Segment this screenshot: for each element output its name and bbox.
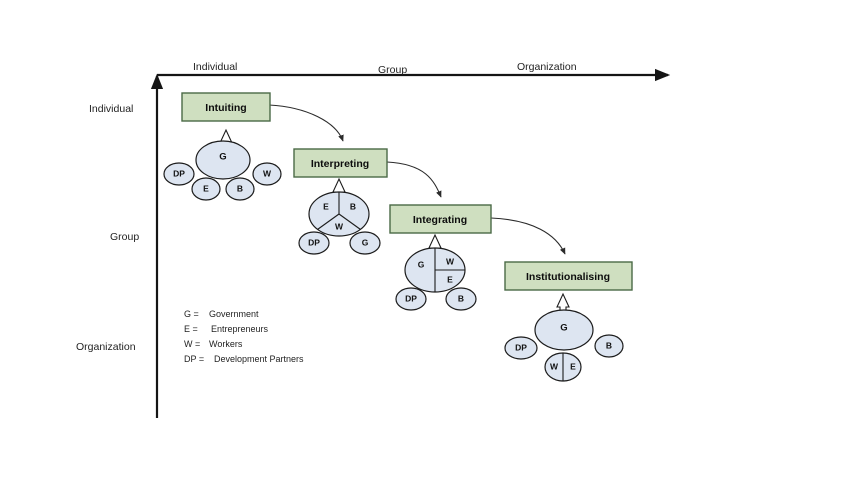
stage-label-institutionalising: Institutionalising — [526, 271, 610, 283]
actor-label-dp: DP — [173, 168, 185, 178]
actor-label-e: E — [447, 274, 453, 284]
actor-label-g: G — [560, 323, 567, 334]
stage-label-intuiting: Intuiting — [205, 102, 246, 114]
stage-integrating[interactable]: Integrating G W E DP B — [390, 205, 491, 310]
actor-label-b: B — [606, 340, 612, 350]
stage-institutionalising[interactable]: Institutionalising G DP B W E — [505, 262, 632, 386]
legend-value-g: Government — [209, 309, 259, 319]
actor-label-w: W — [446, 256, 455, 266]
x-axis-label-organization: Organization — [517, 61, 577, 73]
actor-label-dp: DP — [515, 342, 527, 352]
y-axis-label-individual: Individual — [89, 103, 133, 115]
actor-label-b: B — [237, 183, 243, 193]
connector-intuiting-to-interpreting — [269, 105, 343, 141]
stage-intuiting[interactable]: Intuiting G DP W E B — [164, 93, 281, 200]
actor-label-w: W — [263, 168, 272, 178]
legend-value-w: Workers — [209, 339, 243, 349]
x-axis-label-individual: Individual — [193, 61, 237, 73]
actor-label-g: G — [219, 152, 226, 163]
legend: G = Government E = Entrepreneurs W = Wor… — [184, 309, 304, 364]
diagram-canvas: Individual Group Organization Individual… — [0, 0, 860, 484]
connector-interpreting-to-integrating — [387, 162, 441, 197]
actor-label-dp: DP — [405, 293, 417, 303]
actor-label-g: G — [362, 237, 369, 247]
legend-value-e: Entrepreneurs — [211, 324, 269, 334]
stage-interpreting[interactable]: Interpreting E B W DP G — [294, 149, 387, 254]
actor-label-dp: DP — [308, 237, 320, 247]
legend-value-dp: Development Partners — [214, 354, 304, 364]
legend-key-w: W = — [184, 339, 200, 349]
legend-key-dp: DP = — [184, 354, 204, 364]
actor-label-w: W — [550, 361, 559, 371]
stage-label-integrating: Integrating — [413, 214, 467, 226]
legend-key-e: E = — [184, 324, 198, 334]
x-axis-label-group: Group — [378, 64, 407, 76]
actor-label-e: E — [570, 361, 576, 371]
y-axis-label-group: Group — [110, 231, 139, 243]
y-axis-label-organization: Organization — [76, 341, 136, 353]
learning-framework-diagram: Individual Group Organization Individual… — [0, 0, 860, 484]
actor-label-e: E — [323, 201, 329, 211]
connector-integrating-to-institutionalising — [491, 218, 565, 254]
stage-label-interpreting: Interpreting — [311, 158, 369, 170]
actor-label-b: B — [458, 293, 464, 303]
actor-label-g: G — [418, 259, 425, 269]
axis-group — [157, 75, 668, 418]
actor-label-e: E — [203, 183, 209, 193]
legend-key-g: G = — [184, 309, 199, 319]
actor-label-b: B — [350, 201, 356, 211]
actor-label-w: W — [335, 221, 344, 231]
